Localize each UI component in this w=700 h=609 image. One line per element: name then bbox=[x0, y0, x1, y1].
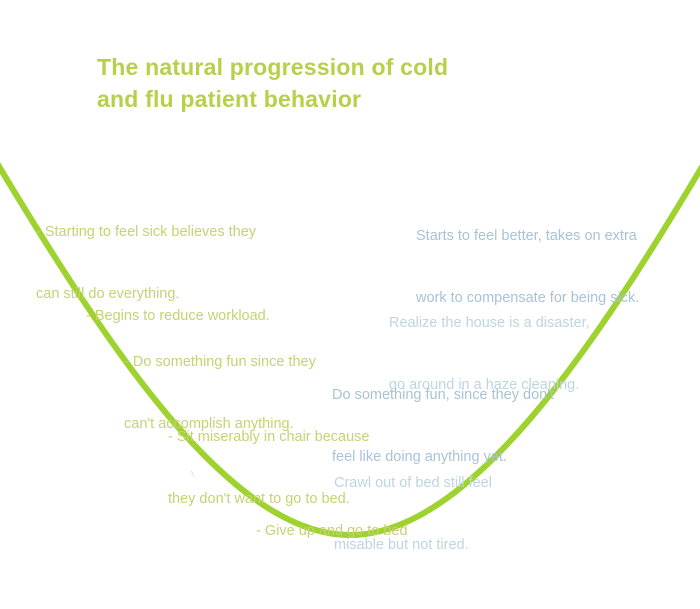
note-line: Realize the house is a disaster, bbox=[389, 313, 590, 334]
note-line: misable but not tired. bbox=[334, 535, 492, 556]
note-line: - Starting to feel sick believes they bbox=[36, 222, 256, 243]
infographic-canvas: The natural progression of cold and flu … bbox=[0, 0, 700, 609]
note-line: - Do something fun since they bbox=[124, 352, 316, 373]
note-line: Crawl out of bed still feel bbox=[334, 473, 492, 494]
note-line: Starts to feel better, takes on extra bbox=[416, 226, 639, 247]
page-title-line-1: The natural progression of cold bbox=[97, 52, 517, 84]
page-title: The natural progression of cold and flu … bbox=[97, 52, 517, 115]
page-title-line-2: and flu patient behavior bbox=[97, 84, 517, 116]
note-crawl-out-of-bed: Crawl out of bed still feel misable but … bbox=[334, 432, 492, 597]
note-line: Do something fun, since they don't bbox=[332, 385, 554, 406]
